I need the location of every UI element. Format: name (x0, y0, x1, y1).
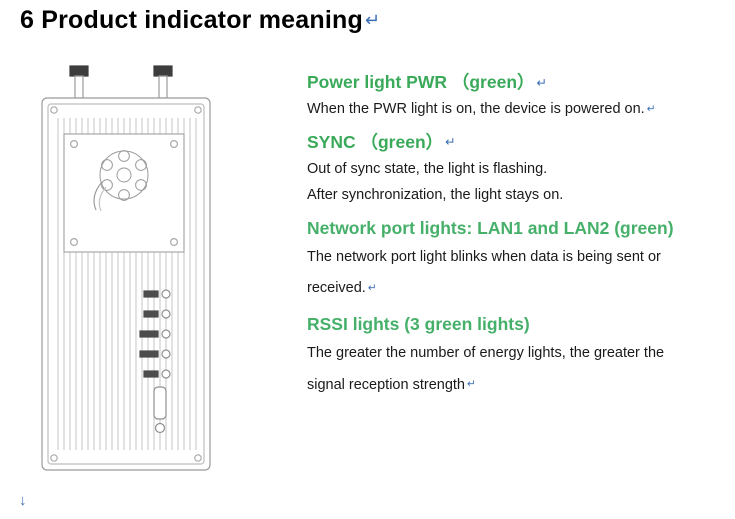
section-line: received.↵ (307, 275, 719, 303)
section-line: After synchronization, the light stays o… (307, 184, 719, 206)
down-arrow-mark: ↓ (19, 492, 27, 509)
section-line-text: signal reception strength (307, 377, 465, 393)
section-line-text: After synchronization, the light stays o… (307, 187, 563, 203)
section-title: Network port lights: LAN1 and LAN2 (gree… (307, 218, 719, 238)
paragraph-mark: ↵ (537, 76, 548, 90)
section-line-text: The network port light blinks when data … (307, 249, 661, 265)
section-title-text: SYNC （green） (307, 132, 443, 152)
section-title-text: RSSI lights (3 green lights) (307, 314, 530, 334)
section-line: The greater the number of energy lights,… (307, 340, 719, 368)
section-line: Out of sync state, the light is flashing… (307, 158, 719, 180)
device-front-panel-drawing (36, 62, 236, 472)
paragraph-mark: ↵ (445, 135, 456, 149)
section-rssi-lights: RSSI lights (3 green lights) The greater… (307, 314, 719, 399)
section-sync: SYNC （green）↵ Out of sync state, the lig… (307, 132, 719, 207)
section-line-text: received. (307, 280, 366, 296)
page-title-text: 6 Product indicator meaning (20, 6, 363, 34)
page-title: 6 Product indicator meaning↵ (20, 6, 380, 35)
section-network-port-lights: Network port lights: LAN1 and LAN2 (gree… (307, 218, 719, 303)
section-line-text: When the PWR light is on, the device is … (307, 101, 645, 117)
indicator-descriptions: Power light PWR （green）↵ When the PWR li… (307, 72, 719, 410)
section-line: The network port light blinks when data … (307, 244, 719, 272)
section-power-light: Power light PWR （green）↵ When the PWR li… (307, 72, 719, 121)
paragraph-mark: ↵ (368, 283, 377, 294)
section-title: RSSI lights (3 green lights) (307, 314, 719, 334)
document-page: 6 Product indicator meaning↵ (0, 0, 735, 519)
section-line: When the PWR light is on, the device is … (307, 98, 719, 120)
section-title: SYNC （green）↵ (307, 132, 719, 152)
section-title-text: Power light PWR （green） (307, 72, 535, 92)
section-line-text: Out of sync state, the light is flashing… (307, 161, 547, 177)
paragraph-mark: ↵ (467, 379, 476, 390)
section-title-text: Network port lights: LAN1 and LAN2 (gree… (307, 218, 674, 238)
device-illustration (36, 62, 236, 472)
paragraph-mark: ↵ (365, 10, 380, 30)
paragraph-mark: ↵ (647, 104, 656, 115)
section-line: signal reception strength↵ (307, 372, 719, 400)
section-line-text: The greater the number of energy lights,… (307, 345, 664, 361)
section-title: Power light PWR （green）↵ (307, 72, 719, 92)
